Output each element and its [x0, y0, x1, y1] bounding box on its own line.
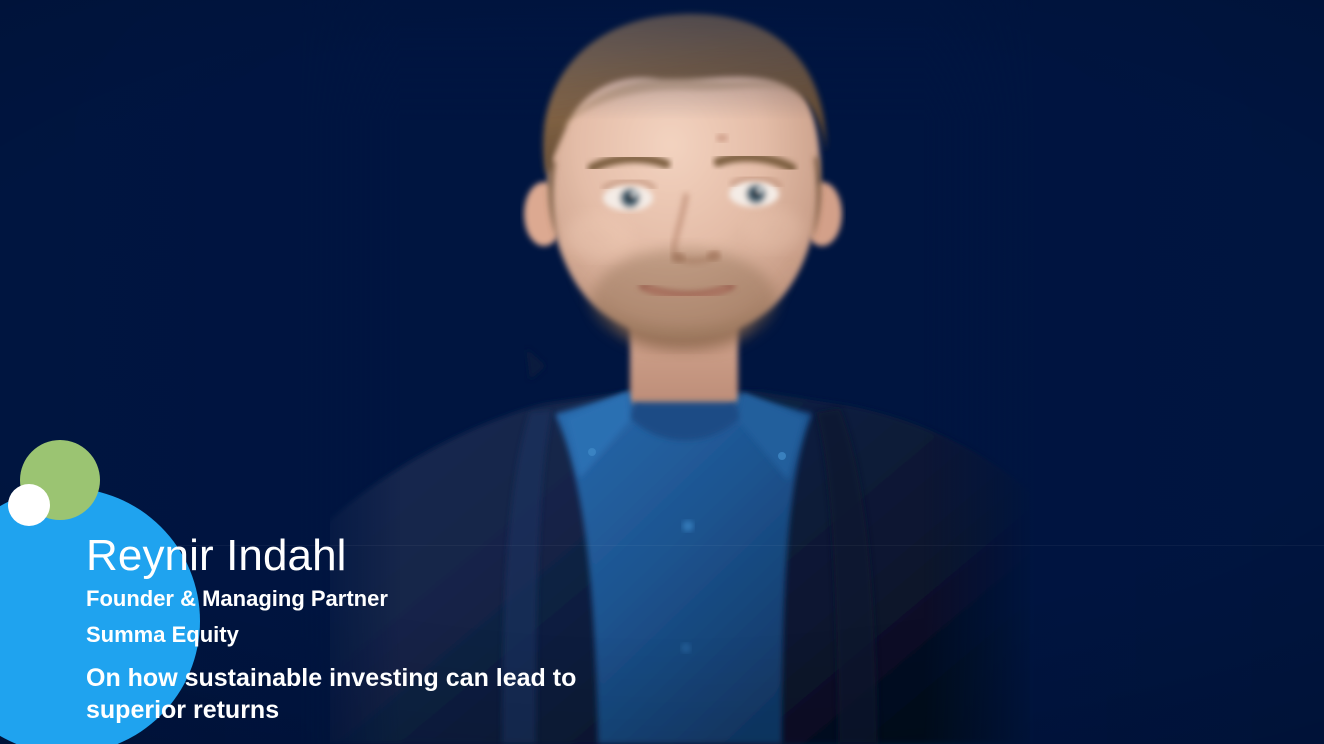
speaker-caption: Reynir Indahl Founder & Managing Partner… [86, 534, 846, 726]
speaker-role: Founder & Managing Partner [86, 588, 846, 610]
speaker-topic: On how sustainable investing can lead to… [86, 663, 606, 726]
white-accent-circle [8, 484, 50, 526]
speaker-name: Reynir Indahl [86, 534, 846, 578]
slide-canvas: Reynir Indahl Founder & Managing Partner… [0, 0, 1324, 744]
speaker-organization: Summa Equity [86, 624, 846, 646]
